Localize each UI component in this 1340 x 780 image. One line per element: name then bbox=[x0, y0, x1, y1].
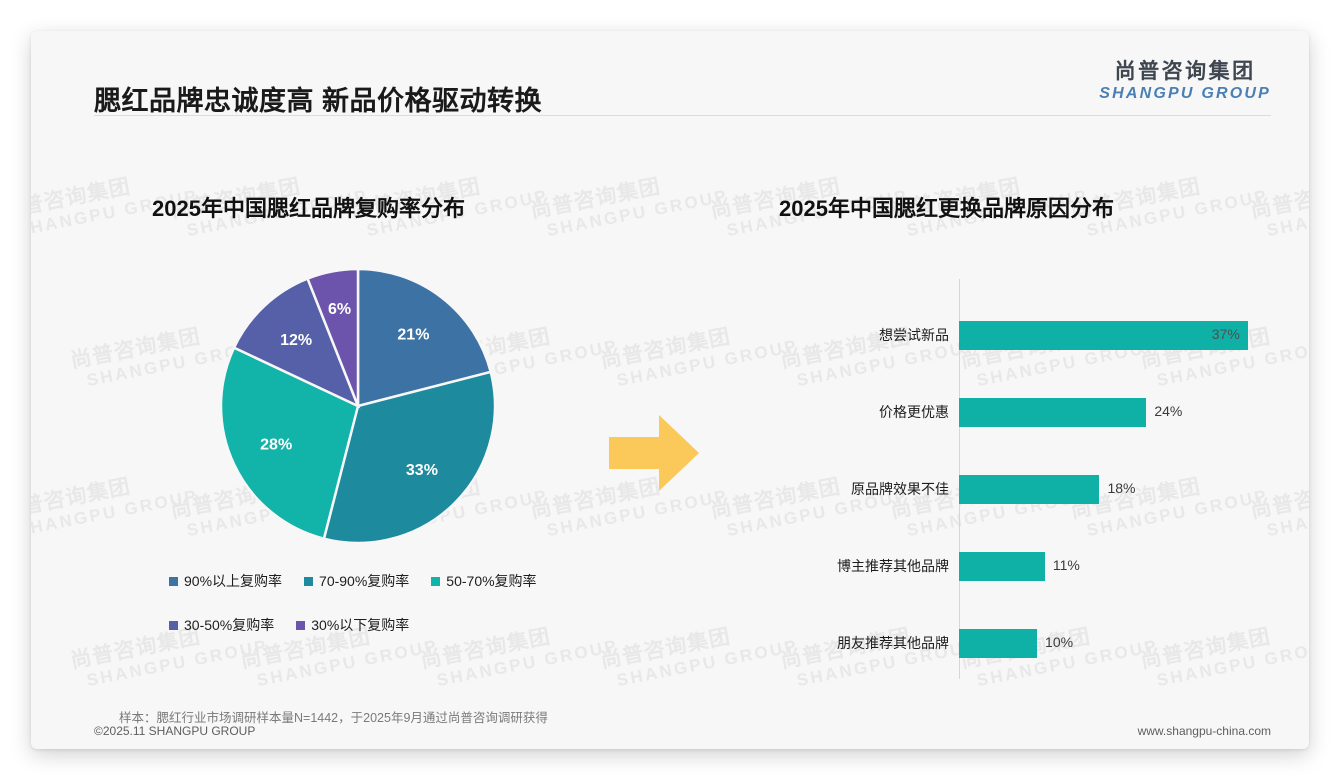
bar-value-label: 10% bbox=[1045, 634, 1073, 650]
slide-frame: 尚普咨询集团SHANGPU GROUP尚普咨询集团SHANGPU GROUP尚普… bbox=[0, 0, 1340, 780]
slide-card: 尚普咨询集团SHANGPU GROUP尚普咨询集团SHANGPU GROUP尚普… bbox=[31, 31, 1309, 749]
legend-row-primary: 90%以上复购率70-90%复购率50-70%复购率 bbox=[169, 571, 599, 591]
bar-chart-row: 原品牌效果不佳18% bbox=[779, 469, 1279, 509]
bar-category-label: 博主推荐其他品牌 bbox=[779, 556, 959, 576]
watermark-text: 尚普咨询集团SHANGPU GROUP bbox=[31, 463, 200, 542]
arrow-right-icon bbox=[607, 411, 701, 495]
legend-swatch-icon bbox=[169, 577, 178, 586]
legend-swatch-icon bbox=[169, 621, 178, 630]
website-url[interactable]: www.shangpu-china.com bbox=[1138, 724, 1271, 738]
legend-swatch-icon bbox=[431, 577, 440, 586]
legend-item-label: 90%以上复购率 bbox=[184, 571, 282, 591]
brand-logo: 尚普咨询集团 SHANGPU GROUP bbox=[1099, 60, 1271, 103]
pie-chart: 21%33%28%12%6% bbox=[217, 265, 499, 547]
bar-chart-title: 2025年中国腮红更换品牌原因分布 bbox=[779, 191, 1114, 223]
bar-track: 11% bbox=[959, 546, 1279, 586]
legend-swatch-icon bbox=[296, 621, 305, 630]
bar-track: 18% bbox=[959, 469, 1279, 509]
bar-value-label: 18% bbox=[1107, 480, 1135, 496]
bar-fill[interactable] bbox=[959, 321, 1248, 350]
bar-chart-row: 想尝试新品37% bbox=[779, 315, 1279, 355]
bar-value-label: 24% bbox=[1154, 403, 1182, 419]
bar-track: 10% bbox=[959, 623, 1279, 663]
pie-slice-value-label: 21% bbox=[397, 327, 429, 344]
bar-category-label: 想尝试新品 bbox=[779, 325, 959, 345]
legend-item-label: 50-70%复购率 bbox=[446, 571, 536, 591]
bar-category-label: 原品牌效果不佳 bbox=[779, 479, 959, 499]
copyright-text: ©2025.11 SHANGPU GROUP bbox=[94, 724, 255, 738]
bar-track: 24% bbox=[959, 392, 1279, 432]
bar-chart: 想尝试新品37%价格更优惠24%原品牌效果不佳18%博主推荐其他品牌11%朋友推… bbox=[779, 279, 1279, 679]
bar-category-label: 价格更优惠 bbox=[779, 402, 959, 422]
bar-fill[interactable] bbox=[959, 475, 1099, 504]
pie-slice-value-label: 12% bbox=[280, 332, 312, 349]
pie-chart-legend: 90%以上复购率70-90%复购率50-70%复购率 30-50%复购率30%以… bbox=[169, 571, 599, 659]
pie-slice-value-label: 28% bbox=[260, 436, 292, 453]
bar-chart-row: 价格更优惠24% bbox=[779, 392, 1279, 432]
slide-header: 腮红品牌忠诚度高 新品价格驱动转换 尚普咨询集团 SHANGPU GROUP bbox=[31, 31, 1309, 113]
watermark-text: 尚普咨询集团SHANGPU GROUP bbox=[599, 313, 800, 392]
legend-item[interactable]: 30-50%复购率 bbox=[169, 615, 274, 635]
logo-chinese-text: 尚普咨询集团 bbox=[1099, 60, 1271, 84]
watermark-text: 尚普咨询集团SHANGPU GROUP bbox=[529, 163, 730, 242]
page-title: 腮红品牌忠诚度高 新品价格驱动转换 bbox=[94, 79, 542, 118]
bar-value-label: 11% bbox=[1053, 557, 1080, 573]
pie-chart-svg: 21%33%28%12%6% bbox=[217, 265, 499, 547]
legend-item[interactable]: 50-70%复购率 bbox=[431, 571, 536, 591]
legend-swatch-icon bbox=[304, 577, 313, 586]
bar-category-label: 朋友推荐其他品牌 bbox=[779, 633, 959, 653]
logo-english-text: SHANGPU GROUP bbox=[1099, 84, 1271, 103]
legend-item[interactable]: 90%以上复购率 bbox=[169, 571, 282, 591]
legend-item-label: 30%以下复购率 bbox=[311, 615, 409, 635]
legend-row-secondary: 30-50%复购率30%以下复购率 bbox=[169, 615, 599, 635]
bar-chart-row: 朋友推荐其他品牌10% bbox=[779, 623, 1279, 663]
watermark-text: 尚普咨询集团SHANGPU GROUP bbox=[1249, 163, 1309, 242]
legend-item-label: 70-90%复购率 bbox=[319, 571, 409, 591]
watermark-text: 尚普咨询集团SHANGPU GROUP bbox=[599, 613, 800, 692]
bar-value-label: 37% bbox=[1212, 326, 1240, 342]
pie-slice-value-label: 33% bbox=[406, 462, 438, 479]
bar-fill[interactable] bbox=[959, 398, 1146, 427]
pie-chart-title: 2025年中国腮红品牌复购率分布 bbox=[152, 191, 465, 223]
bar-fill[interactable] bbox=[959, 552, 1045, 581]
title-divider bbox=[94, 115, 1271, 116]
slide-footer: ©2025.11 SHANGPU GROUP www.shangpu-china… bbox=[31, 713, 1309, 749]
pie-slice-value-label: 6% bbox=[328, 301, 351, 318]
bar-fill[interactable] bbox=[959, 629, 1037, 658]
bar-chart-row: 博主推荐其他品牌11% bbox=[779, 546, 1279, 586]
legend-item-label: 30-50%复购率 bbox=[184, 615, 274, 635]
bar-track: 37% bbox=[959, 315, 1279, 355]
legend-item[interactable]: 70-90%复购率 bbox=[304, 571, 409, 591]
legend-item[interactable]: 30%以下复购率 bbox=[296, 615, 409, 635]
